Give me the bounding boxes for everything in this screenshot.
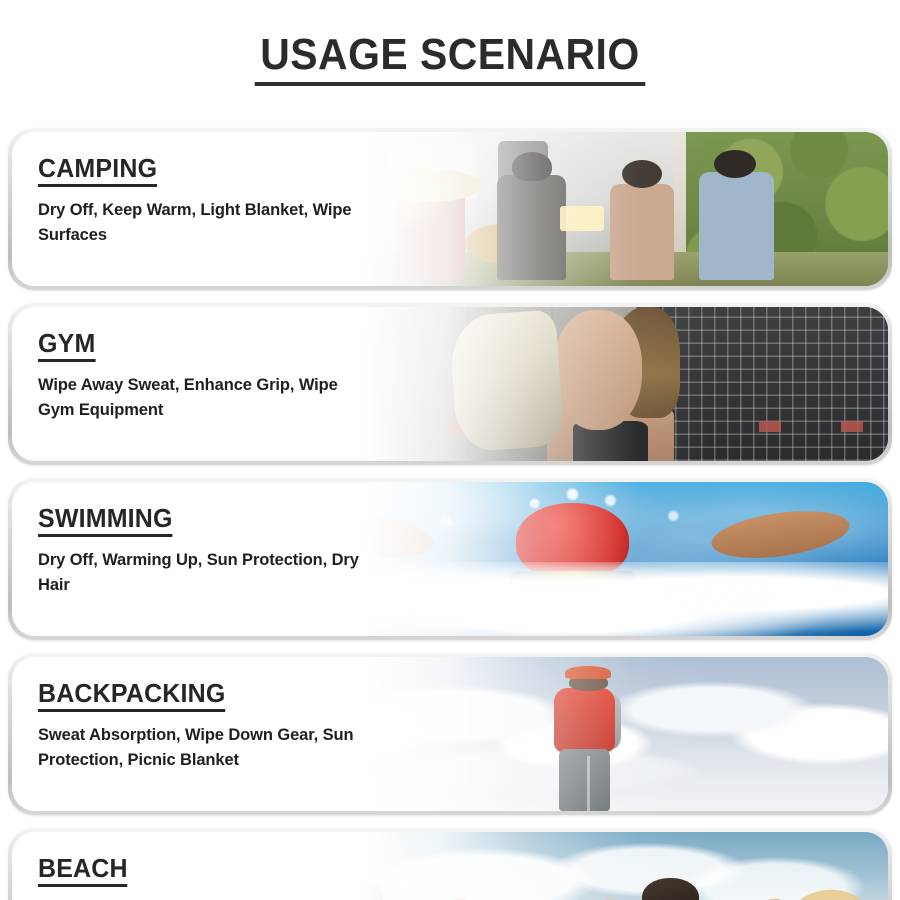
card-inner: GYM Wipe Away Sweat, Enhance Grip, Wipe … [12,307,888,461]
scenario-heading: SWIMMING [38,504,173,537]
head-icon [622,160,662,189]
card-text-block: GYM Wipe Away Sweat, Enhance Grip, Wipe … [38,329,368,423]
page-title: USAGE SCENARIO [255,31,646,86]
scenario-description: Dry Off, Warming Up, Sun Protection, Dry… [38,548,368,598]
pants-icon [559,749,610,811]
leg-split-icon [587,756,590,811]
usage-scenario-infographic: USAGE SCENARIO [0,0,900,900]
scenario-card-swimming: SWIMMING Dry Off, Warming Up, Sun Protec… [8,478,892,640]
card-inner: CAMPING Dry Off, Keep Warm, Light Blanke… [12,132,888,286]
scenario-description: Wipe Away Sweat, Enhance Grip, Wipe Gym … [38,373,368,423]
card-text-block: BEACH Wind Protection, Sun Protection, W… [38,854,368,900]
card-text-block: CAMPING Dry Off, Keep Warm, Light Blanke… [38,154,368,248]
drink-icon [560,206,604,231]
scenario-card-list: CAMPING Dry Off, Keep Warm, Light Blanke… [0,128,900,900]
scenario-card-gym: GYM Wipe Away Sweat, Enhance Grip, Wipe … [8,303,892,465]
hiker-icon [547,666,629,811]
card-inner: SWIMMING Dry Off, Warming Up, Sun Protec… [12,482,888,636]
person-icon [497,175,566,280]
title-block: USAGE SCENARIO [0,0,900,116]
person-icon [699,172,775,280]
head-icon [512,152,552,181]
towel-icon [448,310,564,453]
card-text-block: BACKPACKING Sweat Absorption, Wipe Down … [38,679,368,773]
jacket-icon [554,688,615,752]
scenario-heading: BACKPACKING [38,679,225,712]
person-icon [610,184,673,279]
scenario-description: Dry Off, Keep Warm, Light Blanket, Wipe … [38,198,368,248]
scenario-card-backpacking: BACKPACKING Sweat Absorption, Wipe Down … [8,653,892,815]
person-head-icon [642,878,699,900]
scenario-card-camping: CAMPING Dry Off, Keep Warm, Light Blanke… [8,128,892,290]
lens-flare-icon [358,147,448,237]
face-icon [554,310,642,430]
scenario-heading: CAMPING [38,154,157,187]
card-inner: BEACH Wind Protection, Sun Protection, W… [12,832,888,900]
head-icon [714,150,756,178]
scenario-heading: GYM [38,329,95,362]
scenario-description: Sweat Absorption, Wipe Down Gear, Sun Pr… [38,723,368,773]
card-inner: BACKPACKING Sweat Absorption, Wipe Down … [12,657,888,811]
scenario-card-beach: BEACH Wind Protection, Sun Protection, W… [8,828,892,900]
cap-icon [565,666,611,679]
red-marker-icon [841,421,863,432]
card-text-block: SWIMMING Dry Off, Warming Up, Sun Protec… [38,504,368,598]
red-marker-icon [759,421,781,432]
ground-icon [257,252,888,286]
head-icon [642,878,699,900]
scenario-heading: BEACH [38,854,128,887]
